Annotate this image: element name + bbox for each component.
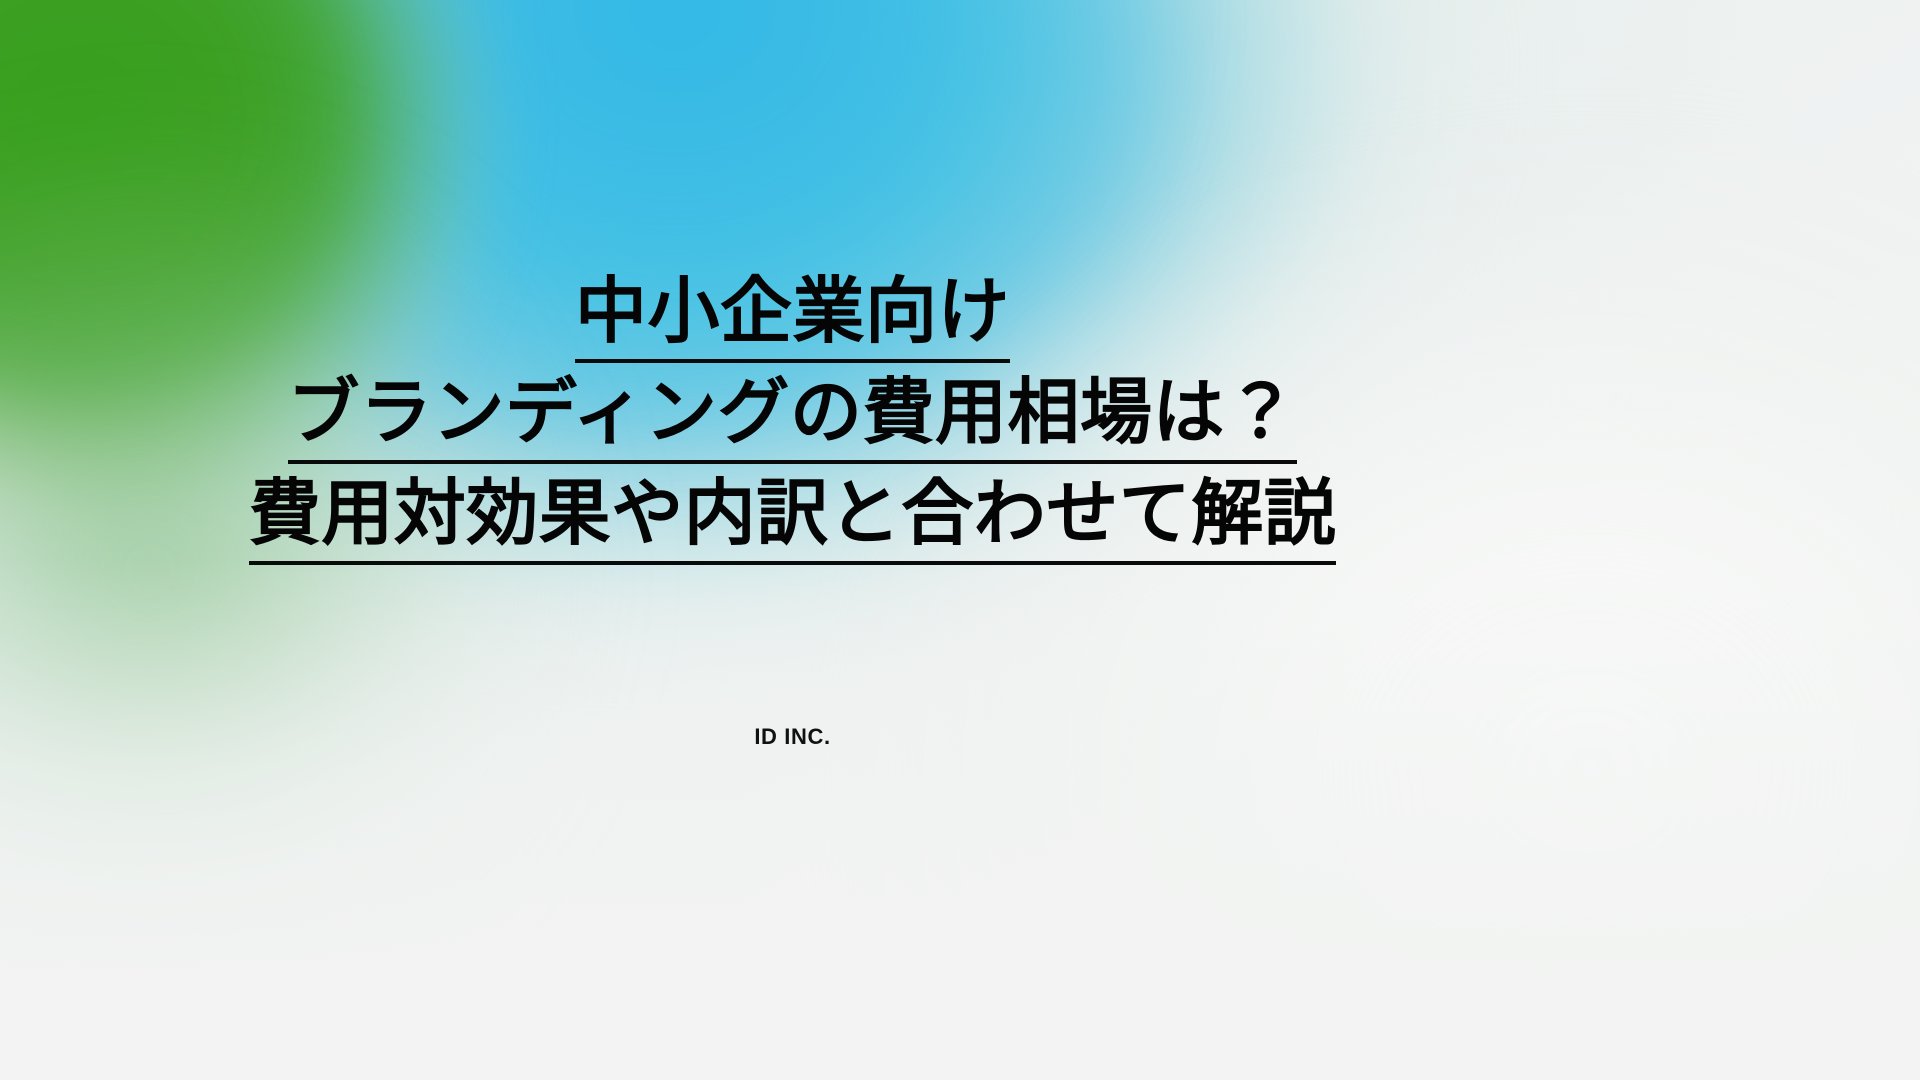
company-name: ID INC. [0, 724, 1585, 750]
title-slide: 中小企業向け ブランディングの費用相場は？ 費用対効果や内訳と合わせて解説 ID… [0, 0, 1920, 1080]
title-line-3-text: 費用対効果や内訳と合わせて解説 [249, 473, 1337, 565]
title-line-1-text: 中小企業向け [575, 271, 1010, 363]
slide-content: 中小企業向け ブランディングの費用相場は？ 費用対効果や内訳と合わせて解説 ID… [0, 0, 1920, 1080]
title-line-2-text: ブランディングの費用相場は？ [288, 372, 1298, 464]
title-line-3: 費用対効果や内訳と合わせて解説 [0, 464, 1585, 565]
title-line-2: ブランディングの費用相場は？ [0, 363, 1585, 464]
title-line-1: 中小企業向け [0, 262, 1585, 363]
page-title: 中小企業向け ブランディングの費用相場は？ 費用対効果や内訳と合わせて解説 [0, 262, 1585, 565]
